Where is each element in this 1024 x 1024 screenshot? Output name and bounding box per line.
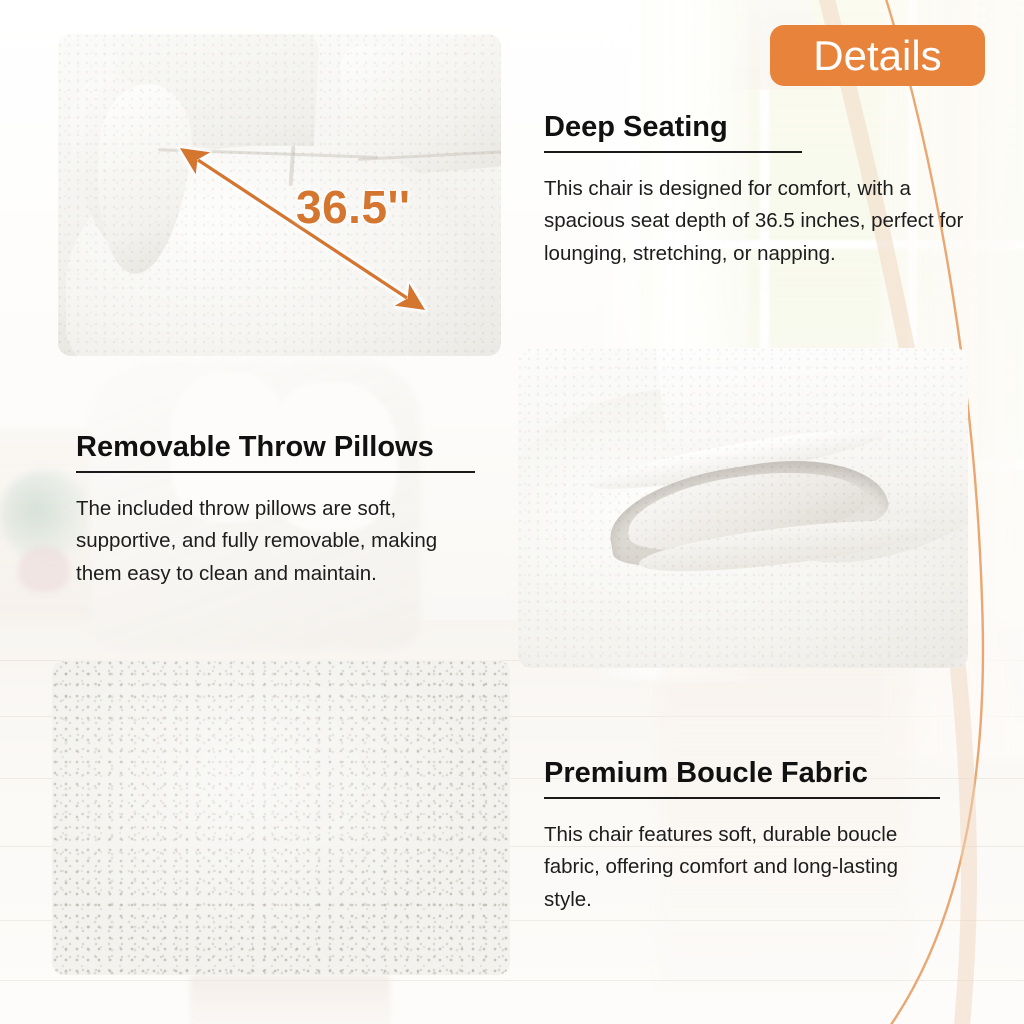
section-deep-seating: Deep Seating This chair is designed for …	[544, 112, 969, 270]
image-deep-seating: 36.5''	[58, 34, 501, 356]
dimension-label: 36.5''	[296, 180, 410, 234]
image-removable-throw-pillows	[518, 348, 968, 668]
heading-removable-throw-pillows: Removable Throw Pillows	[76, 432, 496, 464]
details-badge-label: Details	[813, 32, 941, 80]
heading-rule	[76, 471, 475, 473]
heading-premium-boucle-fabric: Premium Boucle Fabric	[544, 758, 964, 790]
background-table	[190, 975, 390, 1024]
body-text: The included throw pillows are soft, sup…	[76, 493, 468, 590]
background-vase	[18, 546, 70, 592]
product-detail-page: Details	[0, 0, 1024, 1024]
heading-rule	[544, 151, 802, 153]
body-deep-seating: This chair is designed for comfort, with…	[544, 173, 964, 270]
body-text: This chair is designed for comfort, with…	[544, 173, 964, 270]
details-badge: Details	[770, 25, 985, 86]
section-removable-throw-pillows: Removable Throw Pillows The included thr…	[76, 432, 496, 590]
dimension-arrow-icon	[58, 34, 501, 356]
section-premium-boucle-fabric: Premium Boucle Fabric This chair feature…	[544, 758, 964, 916]
body-removable-throw-pillows: The included throw pillows are soft, sup…	[76, 493, 468, 590]
heading-rule	[544, 797, 940, 799]
image-premium-boucle-fabric	[52, 660, 510, 975]
heading-deep-seating: Deep Seating	[544, 112, 969, 144]
body-text: This chair features soft, durable boucle…	[544, 819, 944, 916]
body-premium-boucle-fabric: This chair features soft, durable boucle…	[544, 819, 944, 916]
